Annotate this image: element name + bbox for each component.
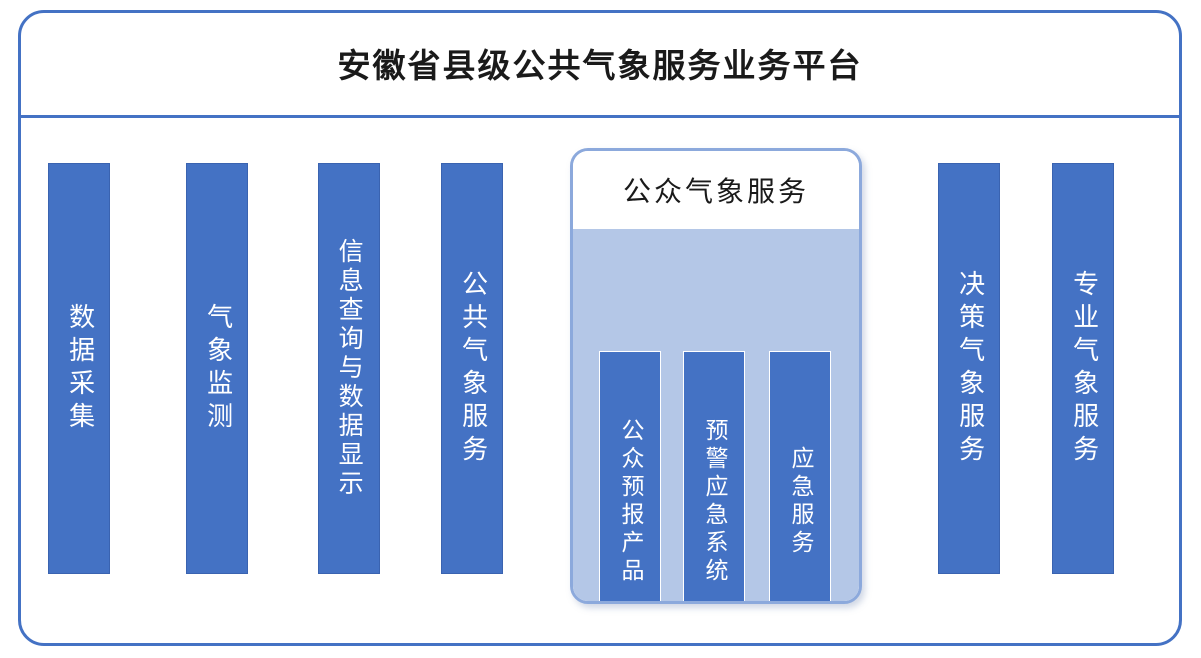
page-title: 安徽省县级公共气象服务业务平台 (338, 39, 863, 87)
pillar-label: 数据采集 (65, 303, 92, 435)
sub-bar-label: 预警应急系统 (697, 418, 731, 586)
diagram-canvas: 安徽省县级公共气象服务业务平台 数据采集 气象监测 信息查询与数据显示 公共气象… (0, 0, 1201, 658)
pillar-label: 公共气象服务 (458, 270, 485, 468)
pillar-label: 气象监测 (203, 303, 230, 435)
pillar-weather-monitoring[interactable]: 气象监测 (186, 163, 248, 574)
pillar-label: 决策气象服务 (955, 270, 982, 468)
pillar-decision-weather-service[interactable]: 决策气象服务 (938, 163, 1000, 574)
pillar-label: 信息查询与数据显示 (336, 238, 362, 499)
pillar-label: 专业气象服务 (1069, 270, 1096, 468)
sub-bar-emergency-service[interactable]: 应急服务 (769, 351, 831, 604)
sub-bar-public-forecast-products[interactable]: 公众预报产品 (599, 351, 661, 604)
title-band: 安徽省县级公共气象服务业务平台 (18, 10, 1182, 118)
center-heading-band: 公众气象服务 (573, 151, 859, 229)
sub-bar-label: 应急服务 (783, 446, 817, 558)
sub-bar-label: 公众预报产品 (613, 418, 647, 586)
pillar-info-query-display[interactable]: 信息查询与数据显示 (318, 163, 380, 574)
center-group-public-weather-service[interactable]: 公众气象服务 公众预报产品 预警应急系统 应急服务 (570, 148, 862, 604)
sub-bar-warning-emergency-system[interactable]: 预警应急系统 (683, 351, 745, 604)
pillar-public-weather-service[interactable]: 公共气象服务 (441, 163, 503, 574)
pillar-data-collection[interactable]: 数据采集 (48, 163, 110, 574)
pillar-professional-weather-service[interactable]: 专业气象服务 (1052, 163, 1114, 574)
center-heading: 公众气象服务 (623, 170, 809, 210)
